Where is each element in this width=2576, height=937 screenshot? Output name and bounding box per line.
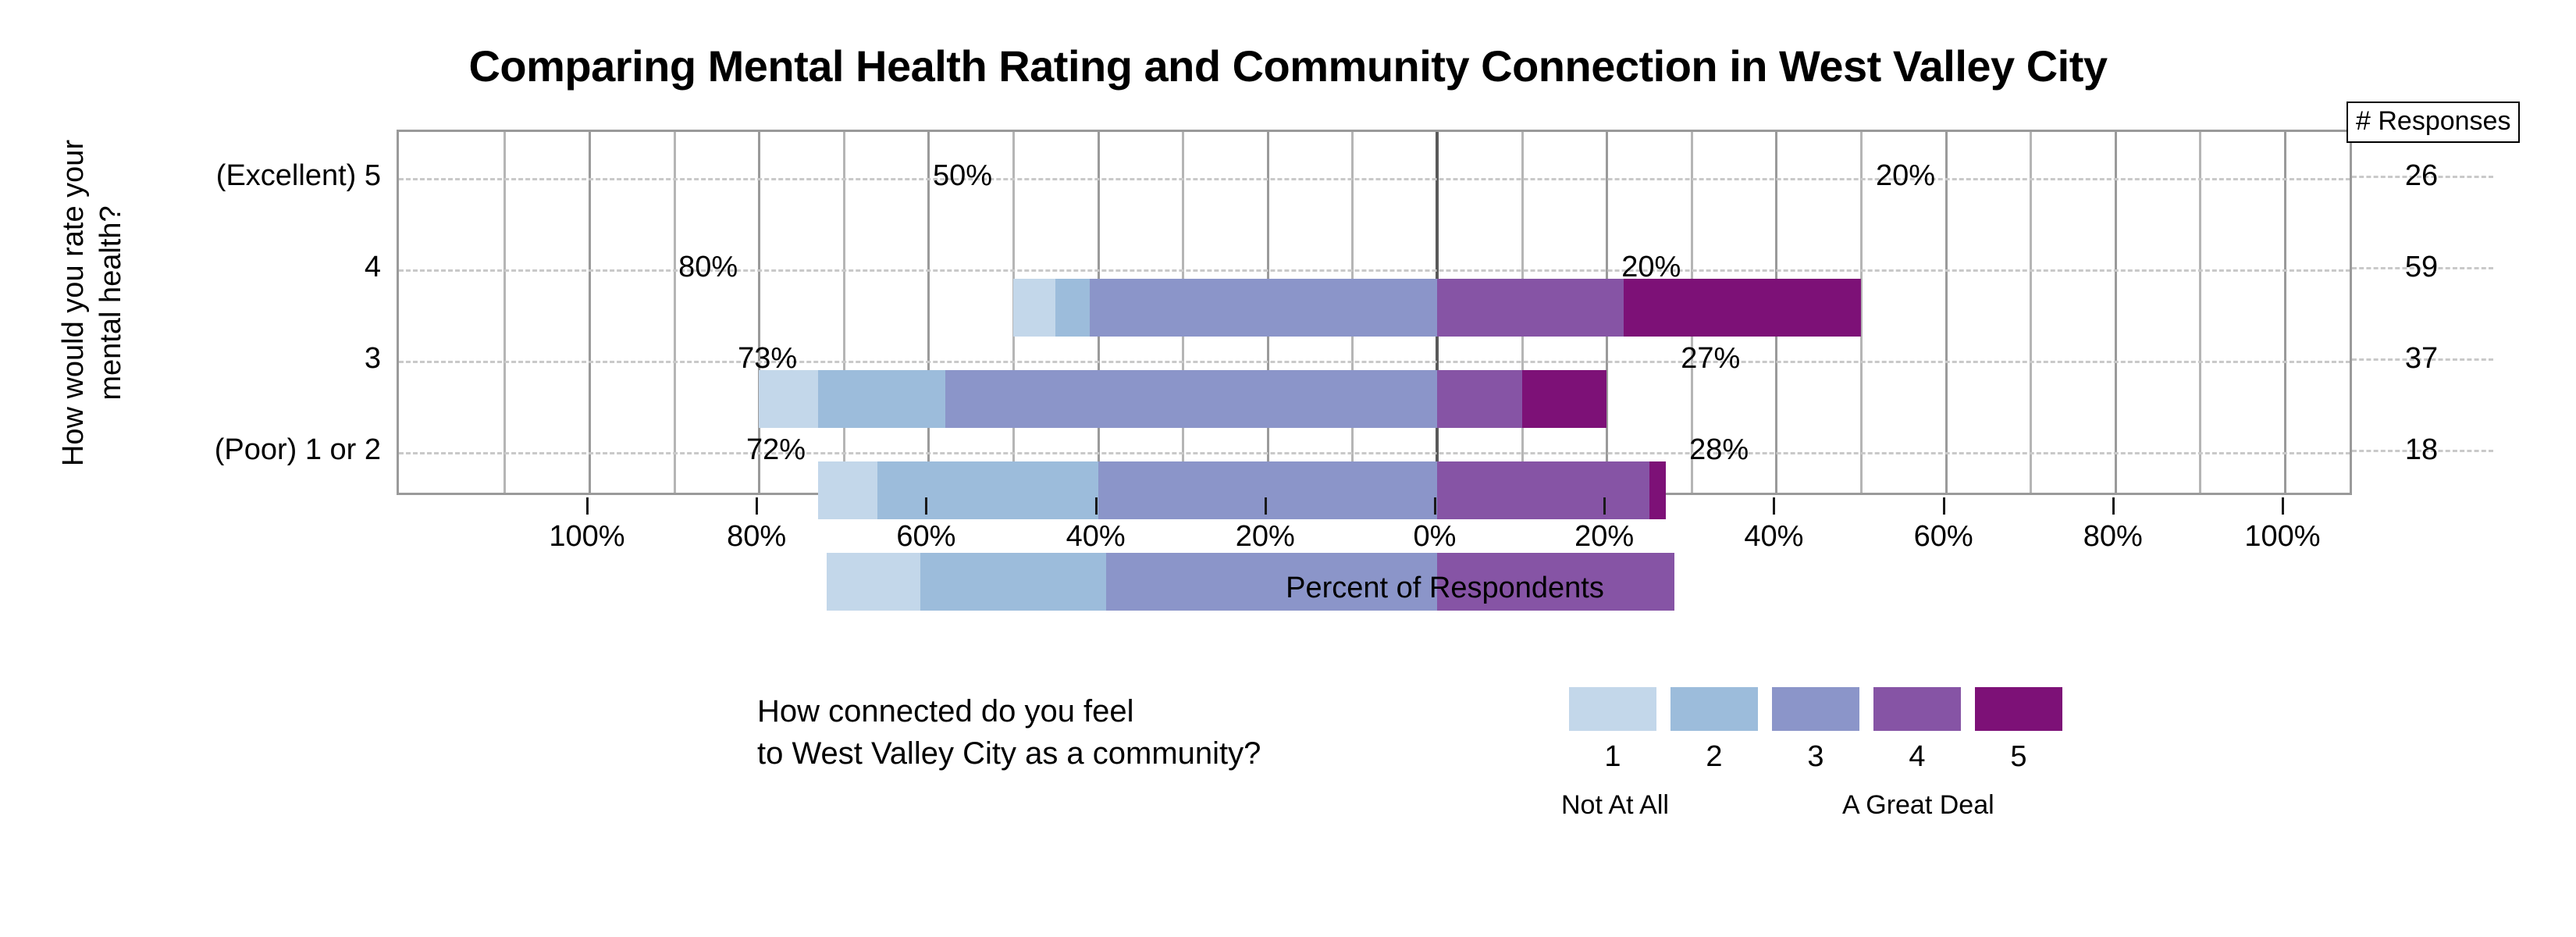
x-axis-tick [1095, 497, 1098, 515]
bar-positive-total-label: 28% [1689, 433, 1838, 467]
y-axis-tick-label: 4 [53, 250, 381, 284]
legend-title: How connected do you feel to West Valley… [757, 690, 1546, 775]
bar-segment-1[interactable] [1013, 279, 1055, 337]
legend-swatch-2[interactable] [1670, 687, 1758, 731]
legend-label-4: 4 [1873, 739, 1961, 775]
bar-negative-total-label: 50% [859, 159, 992, 193]
x-axis-tick-label: 80% [2019, 518, 2207, 554]
y-axis-tick-label: (Poor) 1 or 2 [53, 433, 381, 467]
bar-segment-2[interactable] [1055, 279, 1089, 337]
x-axis-tick [1603, 497, 1606, 515]
legend-swatch-4[interactable] [1873, 687, 1961, 731]
bar-row[interactable] [399, 370, 2496, 428]
x-axis-tick-label: 0% [1341, 518, 1528, 554]
bar-row[interactable] [399, 461, 2496, 519]
legend-swatch-5[interactable] [1975, 687, 2062, 731]
x-axis-tick [2112, 497, 2115, 515]
bar-segment-3[interactable] [945, 370, 1437, 428]
responses-value: 18 [2350, 433, 2493, 467]
bar-segment-2[interactable] [818, 370, 945, 428]
gridline-horizontal [399, 178, 2491, 180]
legend-swatch-3[interactable] [1772, 687, 1859, 731]
responses-value: 37 [2350, 341, 2493, 376]
x-axis-tick [1265, 497, 1267, 515]
responses-column-header: # Responses [2347, 102, 2520, 143]
x-axis-tick-label: 40% [1680, 518, 1867, 554]
responses-value: 59 [2350, 250, 2493, 284]
x-axis-tick-label: 40% [1002, 518, 1190, 554]
bar-row[interactable] [399, 279, 2496, 337]
x-axis-tick [1773, 497, 1775, 515]
bar-segment-5[interactable] [1624, 279, 1861, 337]
legend-low-anchor: Not At All [1561, 789, 1669, 821]
bar-segment-3[interactable] [1090, 279, 1437, 337]
bar-segment-5[interactable] [1522, 370, 1607, 428]
legend-swatch-1[interactable] [1569, 687, 1656, 731]
bar-segment-4[interactable] [1437, 370, 1522, 428]
y-axis-tick-label: (Excellent) 5 [53, 159, 381, 193]
bar-segment-4[interactable] [1437, 279, 1624, 337]
x-axis-title: Percent of Respondents [397, 570, 2493, 606]
x-axis-tick [586, 497, 589, 515]
legend-label-3: 3 [1772, 739, 1859, 775]
x-axis-tick-label: 80% [663, 518, 850, 554]
bar-segment-1[interactable] [818, 461, 877, 519]
x-axis-tick [1943, 497, 1945, 515]
bar-segment-5[interactable] [1649, 461, 1667, 519]
chart-title: Comparing Mental Health Rating and Commu… [0, 41, 2576, 91]
bar-negative-total-label: 80% [605, 250, 738, 284]
x-axis-tick-label: 60% [1850, 518, 2037, 554]
x-axis-tick-label: 20% [1510, 518, 1698, 554]
bar-segment-1[interactable] [759, 370, 818, 428]
bar-positive-total-label: 27% [1681, 341, 1829, 376]
responses-value: 26 [2350, 159, 2493, 193]
x-axis-tick [1434, 497, 1436, 515]
legend-label-5: 5 [1975, 739, 2062, 775]
bar-segment-2[interactable] [877, 461, 1098, 519]
chart-legend: How connected do you feel to West Valley… [0, 687, 2576, 890]
chart-container: Comparing Mental Health Rating and Commu… [0, 0, 2576, 937]
x-axis-tick [756, 497, 758, 515]
bar-segment-4[interactable] [1437, 461, 1649, 519]
x-axis-tick-label: 20% [1172, 518, 1359, 554]
legend-label-1: 1 [1569, 739, 1656, 775]
bar-positive-total-label: 20% [1621, 250, 1770, 284]
bar-segment-3[interactable] [1098, 461, 1437, 519]
legend-title-line-1: How connected do you feel [757, 690, 1546, 732]
x-axis-tick [925, 497, 927, 515]
y-axis-tick-label: 3 [53, 341, 381, 376]
bar-negative-total-label: 72% [673, 433, 806, 467]
x-axis-tick [2282, 497, 2284, 515]
x-axis-tick-label: 100% [493, 518, 681, 554]
legend-high-anchor: A Great Deal [1842, 789, 1994, 821]
legend-title-line-2: to West Valley City as a community? [757, 732, 1546, 775]
bar-positive-total-label: 20% [1876, 159, 2024, 193]
bar-negative-total-label: 73% [664, 341, 797, 376]
x-axis-tick-label: 60% [832, 518, 1019, 554]
legend-label-2: 2 [1670, 739, 1758, 775]
x-axis-tick-label: 100% [2189, 518, 2376, 554]
